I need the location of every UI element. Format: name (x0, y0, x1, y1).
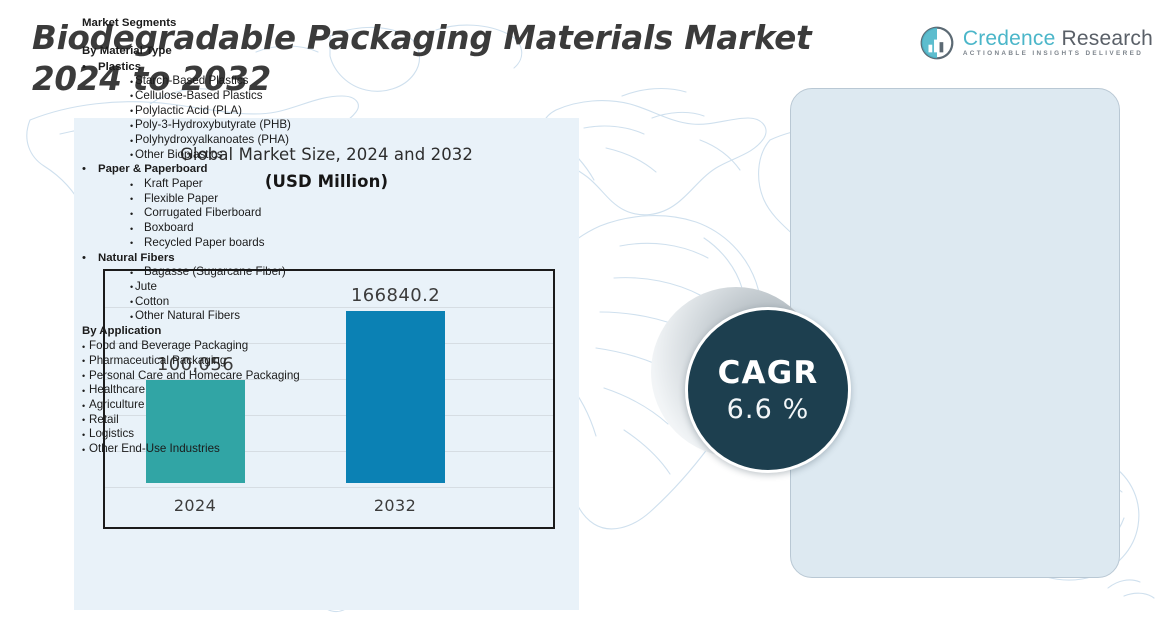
application-item[interactable]: Personal Care and Homecare Packaging (82, 369, 382, 384)
segment-item[interactable]: Cellulose-Based Plastics (82, 89, 382, 104)
application-item[interactable]: Other End-Use Industries (82, 442, 382, 457)
logo-tagline: Actionable Insights Delivered (963, 51, 1153, 57)
by-material-type-heading: By Material Type (82, 44, 382, 59)
segment-group-natural-fibers[interactable]: Natural Fibers (82, 251, 382, 266)
segment-item[interactable]: Other Natural Fibers (82, 309, 382, 324)
application-item[interactable]: Food and Beverage Packaging (82, 339, 382, 354)
spacer (82, 31, 382, 44)
segment-item[interactable]: Kraft Paper (82, 177, 382, 192)
cagr-circle: CAGR 6.6 % (685, 307, 851, 473)
cagr-label: CAGR (718, 358, 819, 389)
segment-item[interactable]: Flexible Paper (82, 192, 382, 207)
bar-category-2024: 2024 (174, 496, 216, 515)
segment-item[interactable]: Jute (82, 280, 382, 295)
application-item[interactable]: Healthcare (82, 383, 382, 398)
segment-group-plastics[interactable]: Plastics (82, 60, 382, 75)
segment-item[interactable]: Other Bioplastics (82, 148, 382, 163)
logo-text-block: Credence Research Actionable Insights De… (963, 28, 1153, 57)
segment-item[interactable]: Bagasse (Sugarcane Fiber) (82, 265, 382, 280)
application-item[interactable]: Retail (82, 413, 382, 428)
infographic-canvas: Biodegradable Packaging Materials Market… (0, 0, 1167, 618)
application-item[interactable]: Logistics (82, 427, 382, 442)
segments-heading: Market Segments (82, 16, 382, 31)
segment-item[interactable]: Polyhydroxyalkanoates (PHA) (82, 133, 382, 148)
logo-word-credence: Credence (963, 27, 1056, 50)
logo-wordmark: Credence Research (963, 28, 1153, 49)
by-application-heading: By Application (82, 324, 382, 339)
segment-item[interactable]: Polylactic Acid (PLA) (82, 104, 382, 119)
credence-logo-icon (920, 26, 954, 60)
application-item[interactable]: Pharmaceutical Packaging (82, 354, 382, 369)
segment-item[interactable]: Starch-Based Plastics (82, 74, 382, 89)
cagr-value: 6.6 % (727, 396, 810, 423)
bar-category-2032: 2032 (374, 496, 416, 515)
segment-item[interactable]: Corrugated Fiberboard (82, 206, 382, 221)
segment-item[interactable]: Poly-3-Hydroxybutyrate (PHB) (82, 118, 382, 133)
application-item[interactable]: Agriculture (82, 398, 382, 413)
segment-item[interactable]: Boxboard (82, 221, 382, 236)
segment-item[interactable]: Recycled Paper boards (82, 236, 382, 251)
brand-logo[interactable]: Credence Research Actionable Insights De… (920, 26, 1153, 60)
logo-word-research: Research (1055, 27, 1153, 50)
market-segments-content: Market Segments By Material Type Plastic… (82, 16, 382, 457)
segment-item[interactable]: Cotton (82, 295, 382, 310)
segment-group-paper-paperboard[interactable]: Paper & Paperboard (82, 162, 382, 177)
cagr-badge: CAGR 6.6 % (651, 287, 855, 477)
